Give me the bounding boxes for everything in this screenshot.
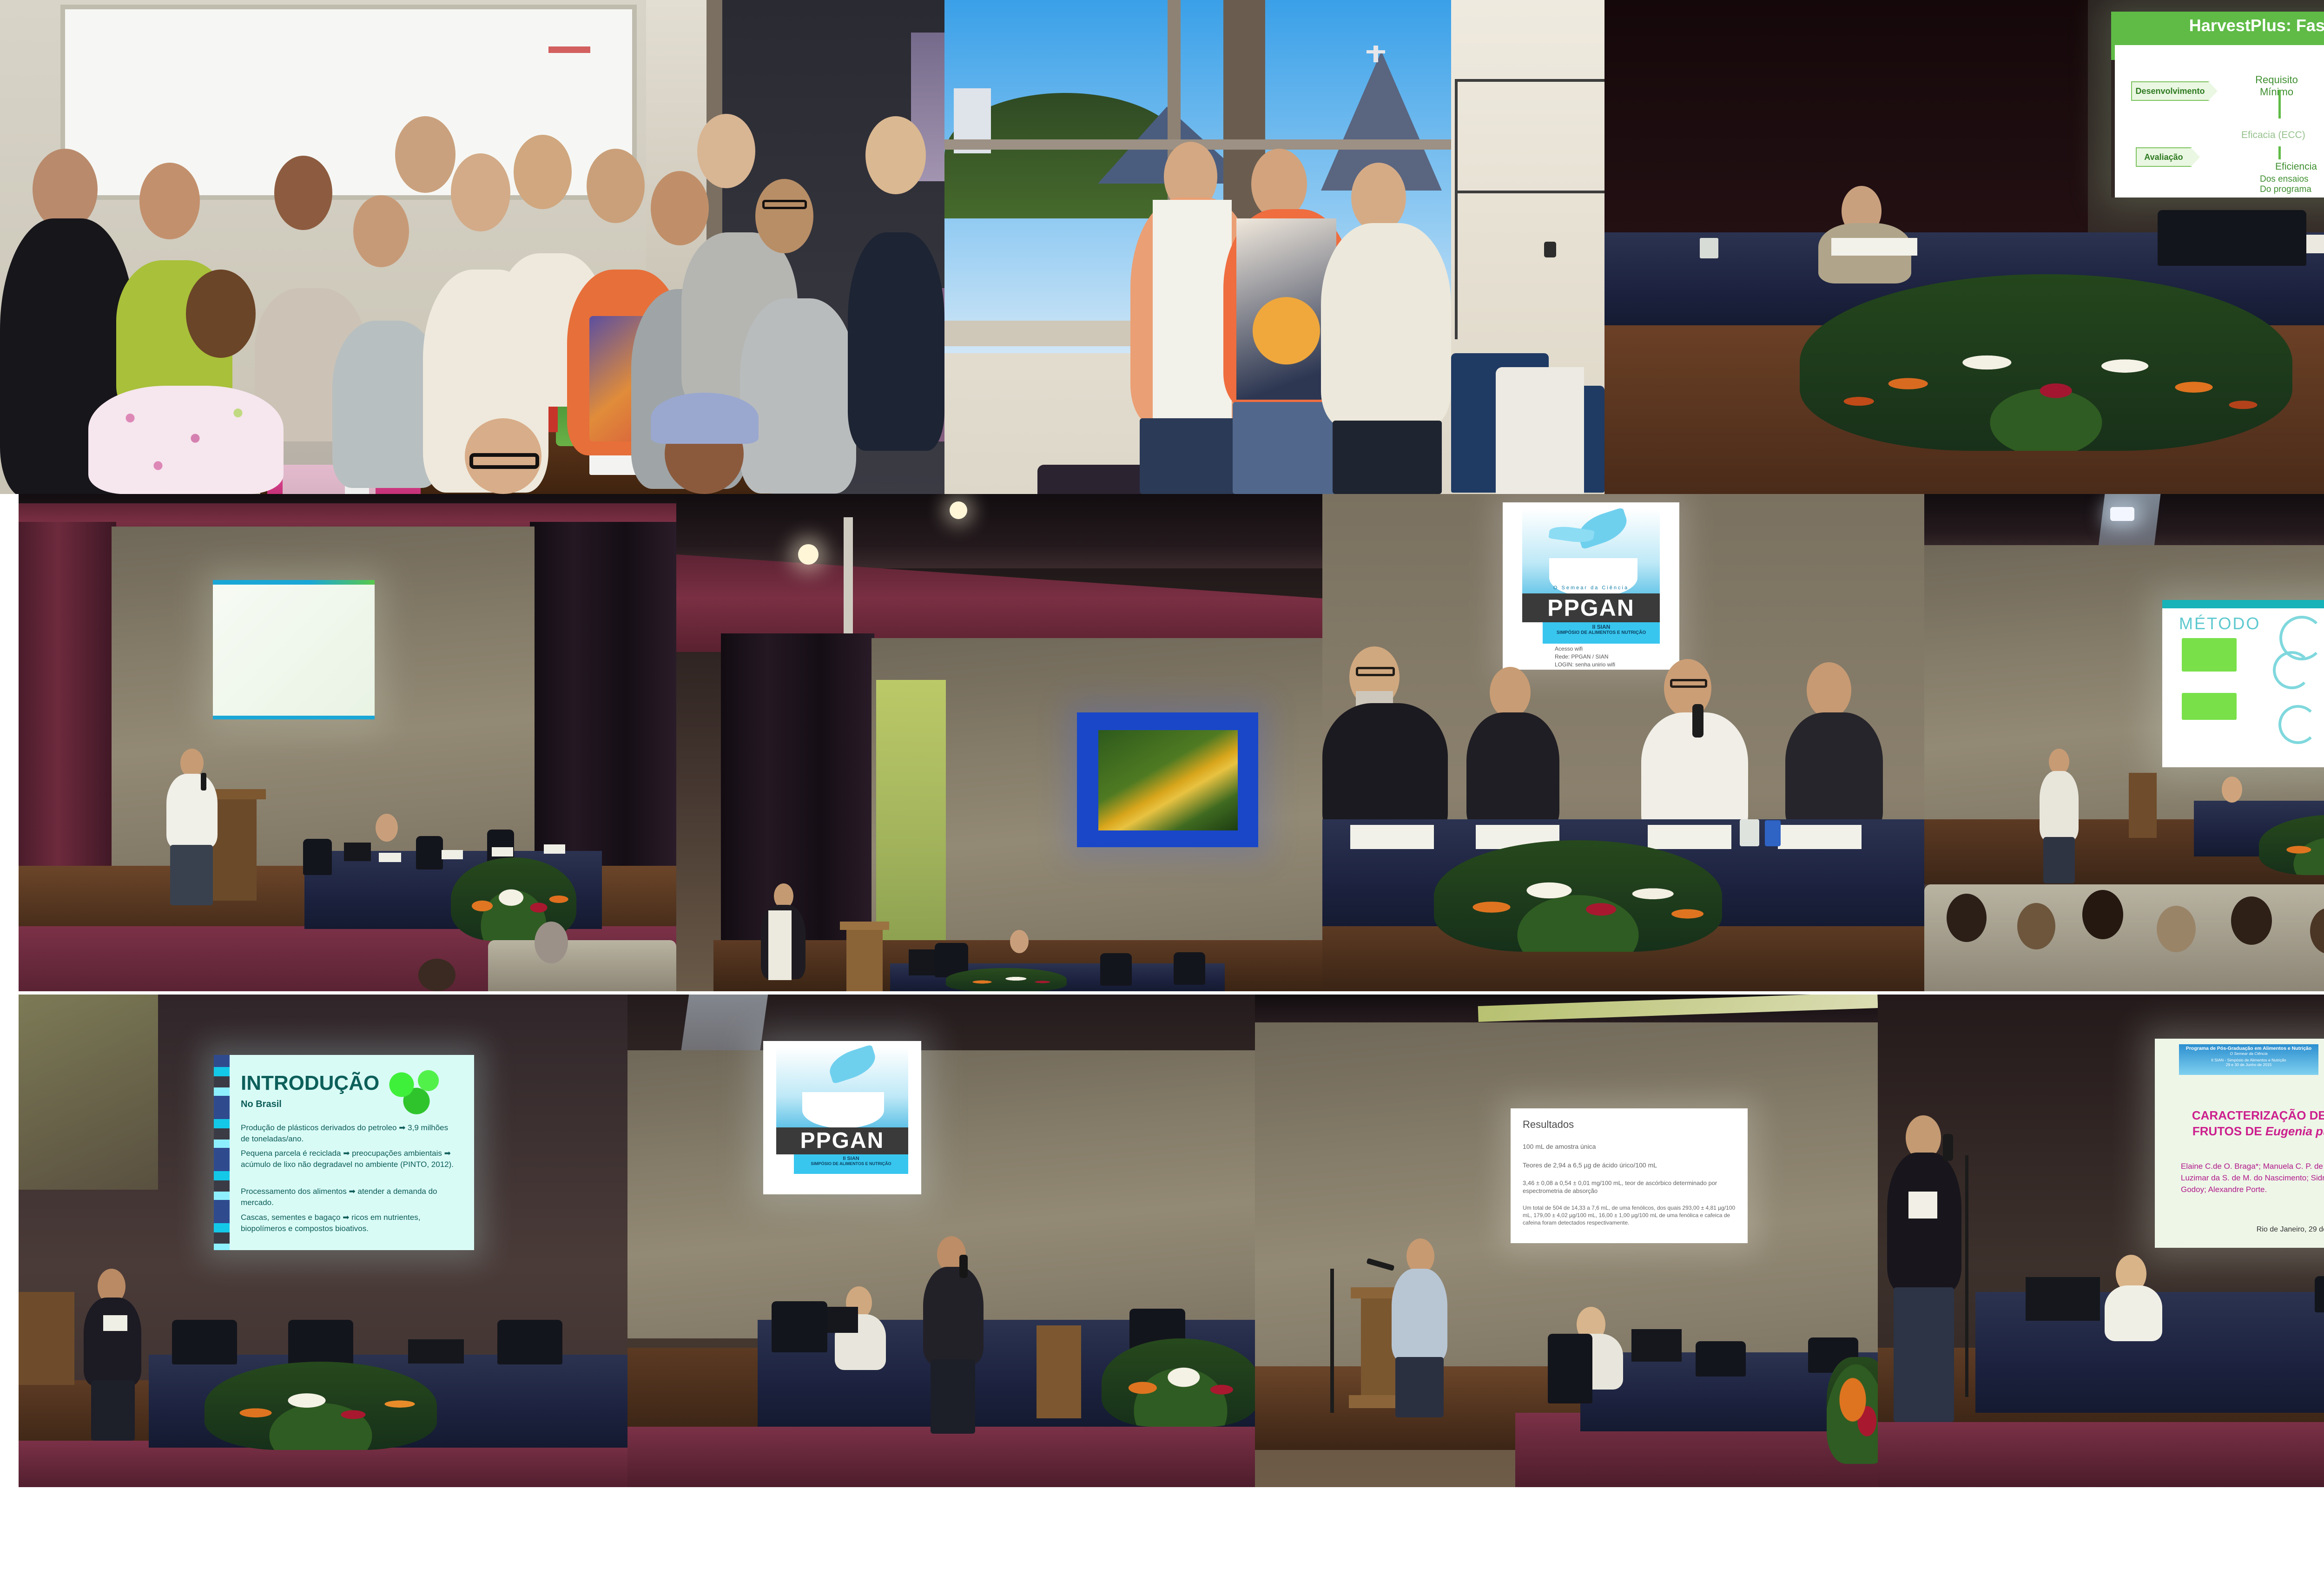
panel-resultados-slide-lecture[interactable]: Resultados 100 mL de amostra única Teore… (1255, 995, 1878, 1487)
name-plate (1831, 238, 1917, 256)
person-head (1351, 163, 1406, 232)
name-plate (442, 850, 463, 859)
slide-ppgan: PPGAN II SIAN SIMPÓSIO DE ALIMENTOS E NU… (763, 1041, 921, 1194)
panelist-head (1807, 662, 1851, 718)
person-legs (1333, 421, 1442, 494)
slide-bullet: Produção de plásticos derivados do petro… (241, 1122, 458, 1145)
wall-panel-divider (1455, 191, 1604, 193)
title-prefix: FRUTOS DE (2192, 1124, 2265, 1138)
slide-introducao: INTRODUÇÃO No Brasil Produção de plástic… (214, 1055, 474, 1250)
slide-bullet: 3,46 ± 0,08 a 0,54 ± 0,01 mg/100 mL, teo… (1523, 1179, 1736, 1195)
person-head (865, 116, 926, 194)
microphone-icon (1943, 1134, 1953, 1161)
microphone-icon (201, 773, 206, 790)
slide-bullet: Teores de 2,94 a 6,5 µg de ácido úrico/1… (1523, 1161, 1736, 1169)
panel-chair (2158, 210, 2306, 266)
panelist-torso (2105, 1285, 2162, 1341)
panelist-head (1010, 930, 1029, 953)
slide-cacao (1077, 712, 1258, 847)
audience-head (2157, 906, 2196, 952)
panel-chair (497, 1320, 562, 1364)
slide-bullet: Cascas, sementes e bagaço ➡ ricos em nut… (241, 1212, 458, 1234)
slide-authors: Elaine C.de O. Braga*; Manuela C. P. de … (2181, 1160, 2324, 1195)
speaker-torso (2040, 771, 2079, 841)
water-glass (1700, 238, 1718, 258)
slide-bullet: Um total de 504 de 14,33 a 7,6 mL, de um… (1523, 1204, 1736, 1226)
bullet-dos-ensaios: Dos ensaios (2260, 174, 2309, 184)
audience-head (418, 959, 456, 991)
panel-chair (303, 839, 332, 875)
name-plate (544, 844, 565, 854)
panel-chair (172, 1320, 237, 1364)
speaker-torso (1887, 1153, 1961, 1292)
panel-chair (1548, 1334, 1592, 1403)
person-head (353, 195, 409, 267)
white-shirt (1153, 200, 1232, 423)
panelist-head (2222, 777, 2242, 803)
badge (103, 1315, 127, 1331)
person-head (275, 153, 276, 154)
headwrap (651, 393, 759, 444)
speaker-shirt (768, 910, 792, 980)
eyeglasses-icon (469, 453, 539, 469)
slide-body: Desenvolvimento Avaliação Requisito Míni… (2115, 45, 2324, 198)
wall-panel-divider (1455, 79, 1458, 339)
panel-stage-blank-screen[interactable] (19, 494, 676, 991)
slide-bullet: Pequena parcela é reciclada ➡ preocupaçõ… (241, 1148, 458, 1170)
process-ring-icon (2273, 651, 2311, 689)
person-head (279, 167, 279, 168)
audience-head (2082, 890, 2123, 939)
label-eficiencia: Eficiencia (2254, 161, 2324, 172)
flower-arrangement (946, 968, 1067, 991)
label-eficacia: Eficacia (ECC) (2241, 130, 2324, 141)
title-species: Eugenia punicifolia (2265, 1124, 2324, 1138)
person-torso (1321, 223, 1451, 428)
speaker-torso (84, 1298, 141, 1386)
panel-harvestplus-lecture[interactable]: HarvestPlus: Fases de pesquisa em Nutriç… (1604, 0, 2324, 494)
person-head (139, 163, 200, 239)
poster-note-3: LOGIN: senha unirio wifi (1555, 661, 1615, 668)
person-head (587, 149, 645, 223)
speaker-legs (170, 845, 213, 905)
panelist-torso (1466, 712, 1559, 833)
name-plate (1648, 825, 1731, 849)
audience-head (535, 922, 568, 963)
banner-line-3: II SIAN - Simpósio de Alimentos e Nutriç… (2182, 1058, 2316, 1062)
christ-redeemer-arms (1367, 50, 1385, 53)
person-head (186, 270, 256, 358)
panel-chair (2315, 1276, 2324, 1312)
slide-accent-bottom (213, 716, 375, 719)
person-torso (740, 298, 856, 494)
bullet-do-programa: Do programa (2260, 184, 2311, 195)
speaker-torso (166, 774, 218, 848)
eyeglasses-icon (762, 200, 807, 209)
flower-arrangement (1434, 840, 1722, 952)
slide-title-line-2: FRUTOS DE Eugenia punicifolia KUNTH DC (2173, 1124, 2324, 1139)
panelist-head (376, 814, 398, 842)
method-photo (2182, 638, 2237, 672)
audience-head (2017, 903, 2055, 949)
stage-curtain-left (19, 522, 116, 903)
slide-subtitle: No Brasil (241, 1099, 282, 1110)
poster-note-2: Rede: PPGAN / SIAN (1555, 653, 1608, 660)
slide-bullet: 100 mL de amostra única (1523, 1143, 1736, 1150)
speaker-head (180, 749, 204, 777)
ceiling-light (950, 501, 967, 519)
podium (2129, 773, 2157, 838)
slide-resultados: Resultados 100 mL de amostra única Teore… (1511, 1108, 1748, 1243)
slide-accent-bar (2162, 600, 2324, 608)
christ-redeemer-statue (1373, 46, 1378, 62)
panel-group-photo-classroom[interactable] (0, 0, 944, 494)
poster-event-band: II SIAN SIMPÓSIO DE ALIMENTOS E NUTRIÇÃO (794, 1154, 908, 1174)
speaker-legs (1894, 1287, 1954, 1422)
person-head (451, 153, 510, 231)
person-head (33, 149, 98, 230)
wall-panel-divider (1455, 79, 1604, 82)
ceiling-light (798, 544, 819, 565)
ceiling (676, 494, 1322, 568)
person-torso (848, 232, 944, 451)
slide-side-strip (214, 1055, 230, 1250)
eyeglasses-icon (1356, 667, 1395, 676)
panel-chair (1100, 953, 1132, 986)
slide-bullet: Processamento dos alimentos ➡ atender a … (241, 1186, 458, 1208)
panelist-torso (1322, 703, 1448, 838)
speaker-legs (2043, 837, 2075, 883)
laptop (2026, 1277, 2100, 1321)
panel-ppgan-panel-table[interactable]: O Semear da Ciência PPGAN II SIAN SIMPÓS… (1322, 494, 1924, 991)
panel-metodo-slide-lecture[interactable]: MÉTODO (1924, 494, 2324, 991)
laptop (408, 1339, 464, 1364)
poster-hand-seed-icon (802, 1092, 884, 1128)
poster-note-1: Acesso wifi (1555, 646, 1583, 652)
door-handle (1544, 242, 1556, 257)
office-chair-dark (1037, 465, 1154, 494)
microphone-icon (1692, 704, 1703, 738)
soda-can (1765, 820, 1781, 846)
speaker-legs (931, 1359, 975, 1434)
person-legs (1140, 418, 1247, 494)
slide-metodo: MÉTODO (2162, 600, 2324, 767)
panelist-torso (1785, 712, 1883, 834)
water-glass (1740, 819, 1759, 846)
person-head (697, 114, 755, 188)
microphone-stand (1330, 1269, 1334, 1413)
audience-seats (488, 940, 676, 991)
name-plate (492, 847, 513, 856)
label-requisito-minimo: Requisito Mínimo (2239, 74, 2314, 98)
cacao-pod-photo (1098, 730, 1238, 830)
speaker-legs (1395, 1357, 1444, 1417)
window-frame-horizontal (944, 139, 1488, 150)
slide-antocianinas: Programa de Pós-Graduação em Alimentos e… (2155, 1039, 2324, 1248)
slide-title-line-1: CARACTERIZAÇÃO DE ANTOCIANINAS EM (2173, 1108, 2324, 1123)
person-head (274, 156, 332, 230)
panel-cacao-slide-lecture[interactable] (676, 494, 1322, 991)
panel-chair (288, 1320, 353, 1364)
projector-mount (844, 517, 853, 652)
microphone-icon (959, 1255, 968, 1278)
panel-three-women-window[interactable] (944, 0, 1604, 494)
slide-ppgan-poster: O Semear da Ciência PPGAN II SIAN SIMPÓS… (1503, 502, 1679, 670)
person-head (278, 156, 278, 156)
banner-line-1: Programa de Pós-Graduação em Alimentos e… (2182, 1046, 2316, 1051)
panelist-head (1664, 659, 1711, 718)
slide-title: Resultados (1523, 1119, 1736, 1131)
person-head (395, 116, 456, 193)
projection-screen (213, 580, 375, 719)
speaker-torso (1392, 1269, 1447, 1362)
white-sweater-on-chair (1496, 367, 1584, 494)
flower-arrangement (1102, 1338, 1255, 1427)
name-plate (1350, 825, 1434, 849)
poster-event-title: II SIAN (794, 1154, 908, 1161)
microphone-stand (1965, 1155, 1968, 1397)
panel-ppgan-slide-lecture[interactable]: PPGAN II SIAN SIMPÓSIO DE ALIMENTOS E NU… (627, 995, 1255, 1487)
poster-event-subtitle: SIMPÓSIO DE ALIMENTOS E NUTRIÇÃO (1543, 630, 1660, 635)
podium (19, 1292, 74, 1385)
panelist-head (1490, 667, 1531, 718)
panel-antocianinas-slide-lecture[interactable]: Programa de Pós-Graduação em Alimentos e… (1878, 995, 2324, 1487)
method-photo (2182, 693, 2237, 720)
panel-chair (772, 1301, 827, 1352)
poster-logo-text: PPGAN (1522, 593, 1660, 622)
flower-arrangement (1827, 1357, 1878, 1464)
audience-head (1947, 894, 1987, 942)
arrow-down-icon (2278, 90, 2281, 119)
name-plate (379, 853, 401, 862)
chevron-desenvolvimento: Desenvolvimento (2131, 81, 2209, 101)
laptop (344, 843, 371, 861)
badge (1908, 1192, 1937, 1219)
banner-line-2: O Semear da Ciência (2182, 1051, 2316, 1056)
banner-line-4: 29 e 30 de Junho de 2015 (2182, 1062, 2316, 1067)
stage-apron-maroon (1878, 1422, 2324, 1487)
panel-chair (1174, 952, 1205, 985)
flower-arrangement (205, 1362, 437, 1450)
poster-event-subtitle: SIMPÓSIO DE ALIMENTOS E NUTRIÇÃO (794, 1161, 908, 1166)
ceiling-light (2110, 507, 2134, 521)
slide-accent-top (213, 580, 375, 585)
stage-apron-maroon (627, 1427, 1255, 1487)
slide-event-banner: Programa de Pós-Graduação em Alimentos e… (2179, 1044, 2318, 1075)
name-plate (1778, 825, 1862, 849)
arrow-down-icon (2278, 146, 2281, 159)
person-head (514, 135, 572, 209)
podium (1037, 1325, 1081, 1418)
poster-tagline: O Semear da Ciência (1526, 585, 1656, 592)
podium-top (840, 922, 889, 930)
person-head (284, 158, 285, 158)
wall-greenlight-wash (876, 680, 946, 940)
panel-chair (416, 836, 443, 870)
panel-chair (1696, 1341, 1746, 1377)
slide-title: INTRODUÇÃO (241, 1072, 379, 1095)
audience-head (2231, 896, 2272, 945)
panel-introducao-slide-lecture[interactable]: INTRODUÇÃO No Brasil Produção de plástic… (19, 995, 627, 1487)
speaker-torso (923, 1267, 984, 1364)
chevron-avaliacao: Avaliação (2136, 147, 2192, 167)
podium (846, 926, 883, 991)
poster-event-band: II SIAN SIMPÓSIO DE ALIMENTOS E NUTRIÇÃO (1543, 622, 1660, 644)
flower-arrangement (1800, 274, 2292, 451)
eyeglasses-icon (1670, 679, 1707, 688)
stage-curtain-right (530, 522, 676, 875)
person-head (651, 171, 709, 245)
slide-footer-date: Rio de Janeiro, 29 de Junho de 2015 (2155, 1225, 2324, 1234)
speaker-legs (91, 1380, 135, 1441)
smartboard-label (548, 46, 590, 53)
bioplastic-graphic-icon (379, 1064, 454, 1115)
process-ring-icon (2278, 705, 2317, 744)
poster-event-title: II SIAN (1543, 622, 1660, 630)
laptop (1631, 1329, 1682, 1362)
person-head (755, 179, 813, 253)
slide-title: MÉTODO (2179, 614, 2260, 633)
floral-blouse-pattern (93, 393, 279, 494)
wall-light-wash (19, 995, 158, 1190)
poster-logo-text: PPGAN (776, 1127, 908, 1154)
slide-harvestplus: HarvestPlus: Fases de pesquisa em Nutriç… (2111, 12, 2324, 198)
photo-collage: HarvestPlus: Fases de pesquisa em Nutriç… (0, 0, 2324, 1581)
